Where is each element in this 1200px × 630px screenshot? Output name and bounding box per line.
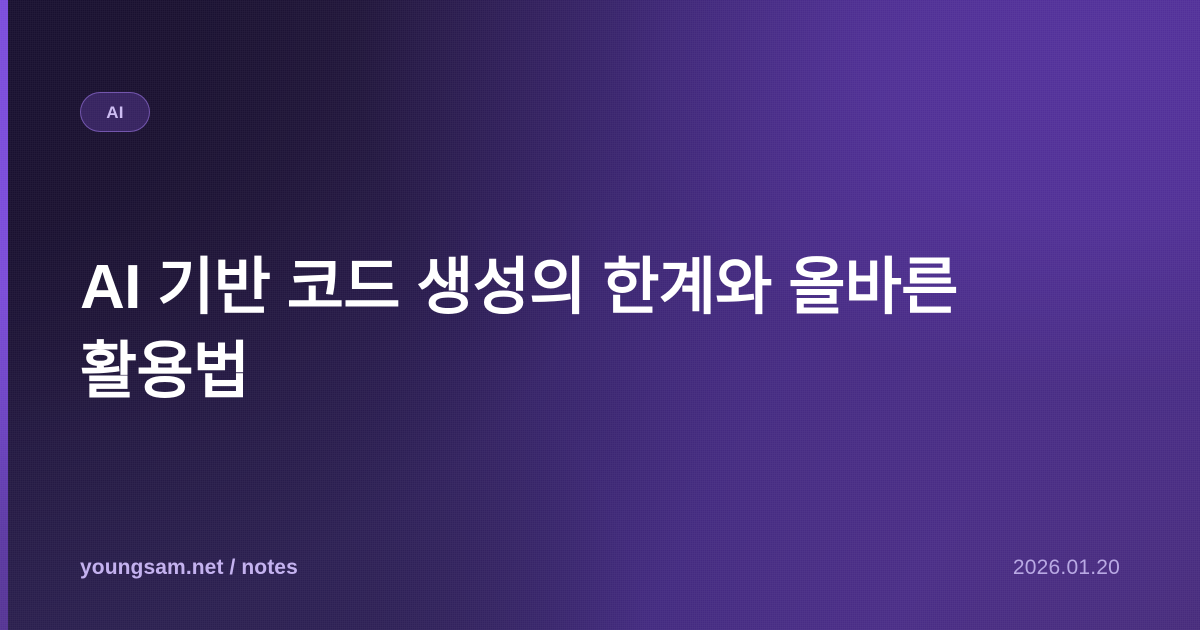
- site-breadcrumb: youngsam.net / notes: [80, 556, 298, 580]
- page-title: AI 기반 코드 생성의 한계와 올바른 활용법: [80, 246, 1040, 414]
- badge-row: AI: [80, 92, 150, 132]
- publish-date: 2026.01.20: [1013, 556, 1120, 580]
- category-badge-ai: AI: [80, 92, 150, 132]
- page-title-line-2: 활용법: [80, 337, 249, 406]
- og-share-card: AI AI 기반 코드 생성의 한계와 올바른 활용법 youngsam.net…: [0, 0, 1200, 630]
- card-footer: youngsam.net / notes 2026.01.20: [80, 556, 1120, 580]
- card-content: AI AI 기반 코드 생성의 한계와 올바른 활용법 youngsam.net…: [0, 0, 1200, 630]
- page-title-line-1: AI 기반 코드 생성의 한계와 올바른: [80, 253, 958, 322]
- title-block: AI 기반 코드 생성의 한계와 올바른 활용법: [80, 246, 1040, 414]
